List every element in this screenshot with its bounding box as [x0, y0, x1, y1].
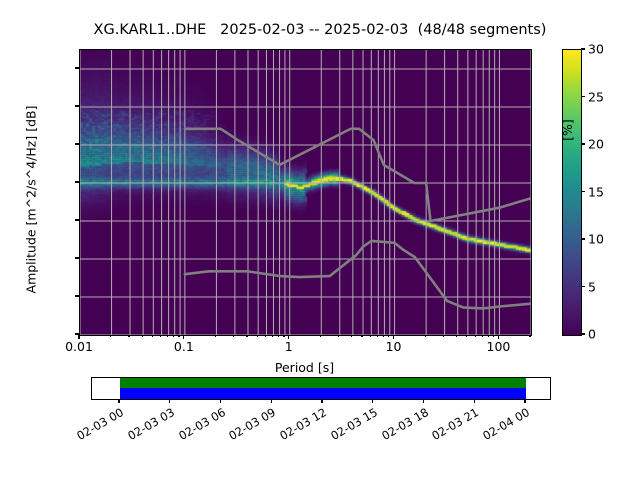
colorbar-tick-label: 30	[588, 42, 604, 57]
x-tick-mark-minor	[482, 335, 483, 337]
x-tick-mark-minor	[370, 335, 371, 337]
timeline-tick-label: 02-03 00	[65, 405, 126, 448]
timeline-tick-mark	[271, 399, 272, 403]
colorbar-tick-mark	[581, 333, 585, 334]
x-tick-label: 1	[285, 339, 293, 354]
colorbar-tick-mark	[581, 238, 585, 239]
timeline-tick-label: 02-03 15	[319, 405, 380, 448]
peterson-noise-model-curves	[80, 50, 531, 335]
x-tick-mark-minor	[383, 335, 384, 337]
timeline-tick-label: 02-03 09	[218, 405, 279, 448]
x-tick-mark-minor	[283, 335, 284, 337]
y-tick-mark	[75, 181, 79, 182]
timeline-tick-label: 02-03 06	[167, 405, 228, 448]
timeline-tick-label: 02-03 18	[370, 405, 431, 448]
colorbar-tick-mark	[581, 191, 585, 192]
x-tick-mark-minor	[110, 335, 111, 337]
x-tick-mark-minor	[272, 335, 273, 337]
timeline-tick-mark	[321, 399, 322, 403]
colorbar-tick-mark	[581, 143, 585, 144]
x-tick-mark-minor	[160, 335, 161, 337]
colorbar-tick-label: 0	[588, 327, 596, 342]
colorbar-tick-mark	[581, 286, 585, 287]
timeline-tick-label: 02-03 03	[116, 405, 177, 448]
y-tick-mark	[75, 105, 79, 106]
x-tick-mark-minor	[529, 335, 530, 337]
x-tick-mark-minor	[152, 335, 153, 337]
y-tick-mark	[75, 257, 79, 258]
x-tick-mark-minor	[246, 335, 247, 337]
y-tick-mark	[75, 143, 79, 144]
x-tick-mark-minor	[388, 335, 389, 337]
timeline-tick-mark	[169, 399, 170, 403]
x-tick-label: 100	[486, 339, 510, 354]
x-tick-mark-minor	[338, 335, 339, 337]
timeline-tick-label: 02-03 21	[421, 405, 482, 448]
x-tick-label: 0.1	[174, 339, 194, 354]
timeline-tick-label: 02-03 12	[268, 405, 329, 448]
x-tick-mark-minor	[178, 335, 179, 337]
colorbar-tick-label: 15	[588, 184, 604, 199]
x-tick-mark-minor	[173, 335, 174, 337]
x-tick-mark-minor	[128, 335, 129, 337]
y-tick-mark	[75, 295, 79, 296]
y-tick-mark	[75, 67, 79, 68]
x-tick-mark-minor	[443, 335, 444, 337]
x-tick-mark-minor	[233, 335, 234, 337]
timeline-tick-mark	[220, 399, 221, 403]
x-tick-mark-minor	[493, 335, 494, 337]
x-axis-label: Period [s]	[79, 360, 530, 375]
timeline-tick-mark	[372, 399, 373, 403]
colorbar-tick-label: 20	[588, 137, 604, 152]
ppsd-plot-area[interactable]	[79, 49, 532, 336]
timeline-tick-mark	[524, 399, 525, 403]
ppsd-figure: XG.KARL1..DHE 2025-02-03 -- 2025-02-03 (…	[0, 0, 640, 480]
x-tick-mark-minor	[257, 335, 258, 337]
colorbar-label: [%]	[560, 70, 575, 190]
colorbar-tick-mark	[581, 96, 585, 97]
x-tick-mark-minor	[278, 335, 279, 337]
colorbar-tick-label: 5	[588, 279, 596, 294]
y-axis-label: Amplitude [m^2/s^4/Hz] [dB]	[24, 50, 39, 350]
x-tick-label: 0.01	[65, 339, 93, 354]
timeline-tick-mark	[423, 399, 424, 403]
timeline-tick-mark	[474, 399, 475, 403]
x-tick-mark-minor	[377, 335, 378, 337]
x-tick-mark-minor	[142, 335, 143, 337]
x-tick-mark-minor	[215, 335, 216, 337]
x-tick-mark-minor	[488, 335, 489, 337]
x-tick-mark-minor	[320, 335, 321, 337]
colorbar-tick-label: 10	[588, 232, 604, 247]
x-tick-mark-minor	[475, 335, 476, 337]
colorbar-tick-mark	[581, 48, 585, 49]
x-tick-mark-minor	[167, 335, 168, 337]
x-tick-mark-minor	[351, 335, 352, 337]
page-title: XG.KARL1..DHE 2025-02-03 -- 2025-02-03 (…	[0, 22, 640, 38]
timeline-tick-mark	[118, 399, 119, 403]
x-tick-mark-minor	[265, 335, 266, 337]
timeline-plot-area[interactable]	[91, 377, 551, 400]
colorbar-tick-label: 25	[588, 89, 604, 104]
coverage-bar-blue	[120, 388, 526, 399]
x-tick-mark-minor	[456, 335, 457, 337]
x-tick-label: 10	[386, 339, 402, 354]
y-tick-mark	[75, 219, 79, 220]
x-tick-mark-minor	[466, 335, 467, 337]
timeline-tick-label: 02-04 00	[471, 405, 532, 448]
coverage-bar-green	[120, 378, 526, 388]
x-tick-mark-minor	[425, 335, 426, 337]
x-tick-mark-minor	[361, 335, 362, 337]
